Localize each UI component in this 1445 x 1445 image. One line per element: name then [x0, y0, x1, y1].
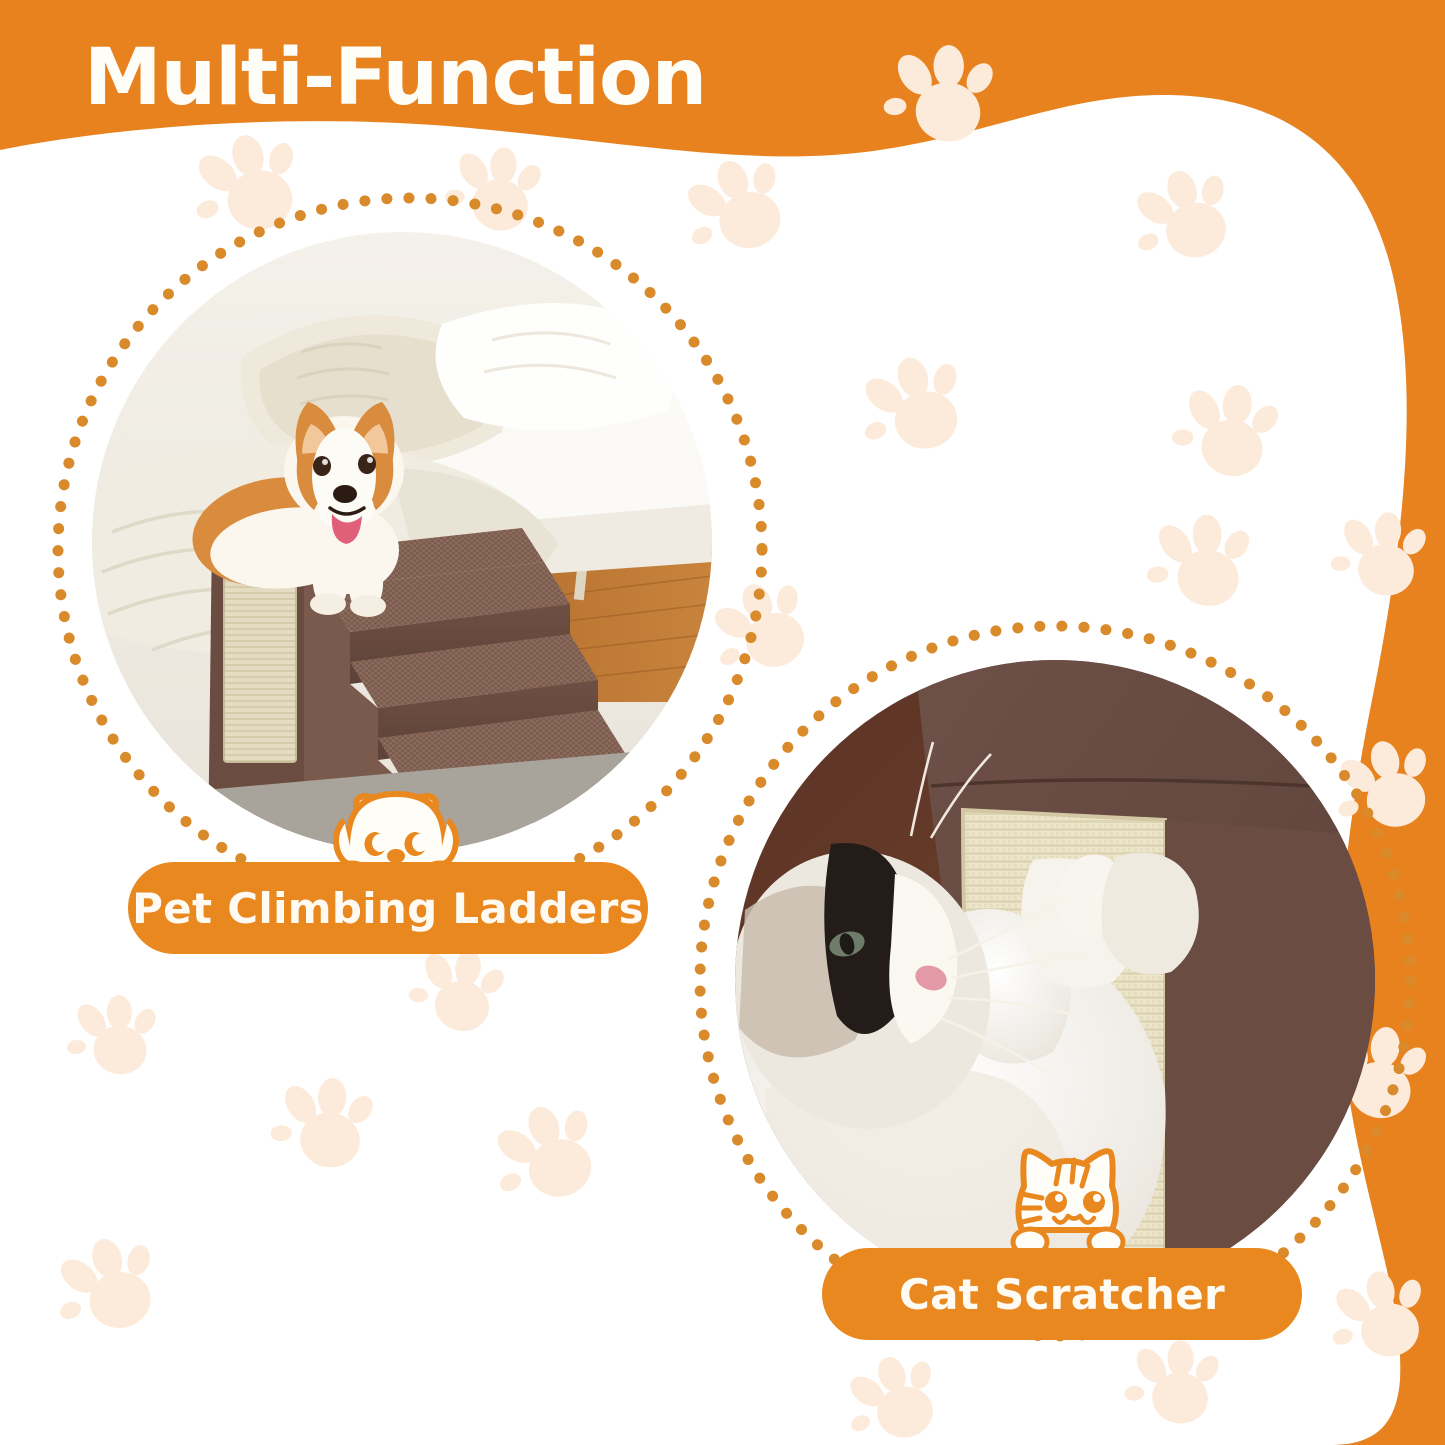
feature-label-cat-scratcher[interactable]: Cat Scratcher: [822, 1248, 1302, 1340]
photo-pet-climbing-ladders: [92, 232, 712, 852]
feature-label-pet-climbing-ladders[interactable]: Pet Climbing Ladders: [128, 862, 648, 954]
cat-face-icon: [1002, 1146, 1132, 1256]
promo-banner: Multi-Function: [0, 0, 1445, 1445]
page-title: Multi-Function: [84, 38, 706, 120]
feature-label-text-2: Cat Scratcher: [899, 1270, 1225, 1319]
feature-label-text-1: Pet Climbing Ladders: [132, 884, 644, 933]
